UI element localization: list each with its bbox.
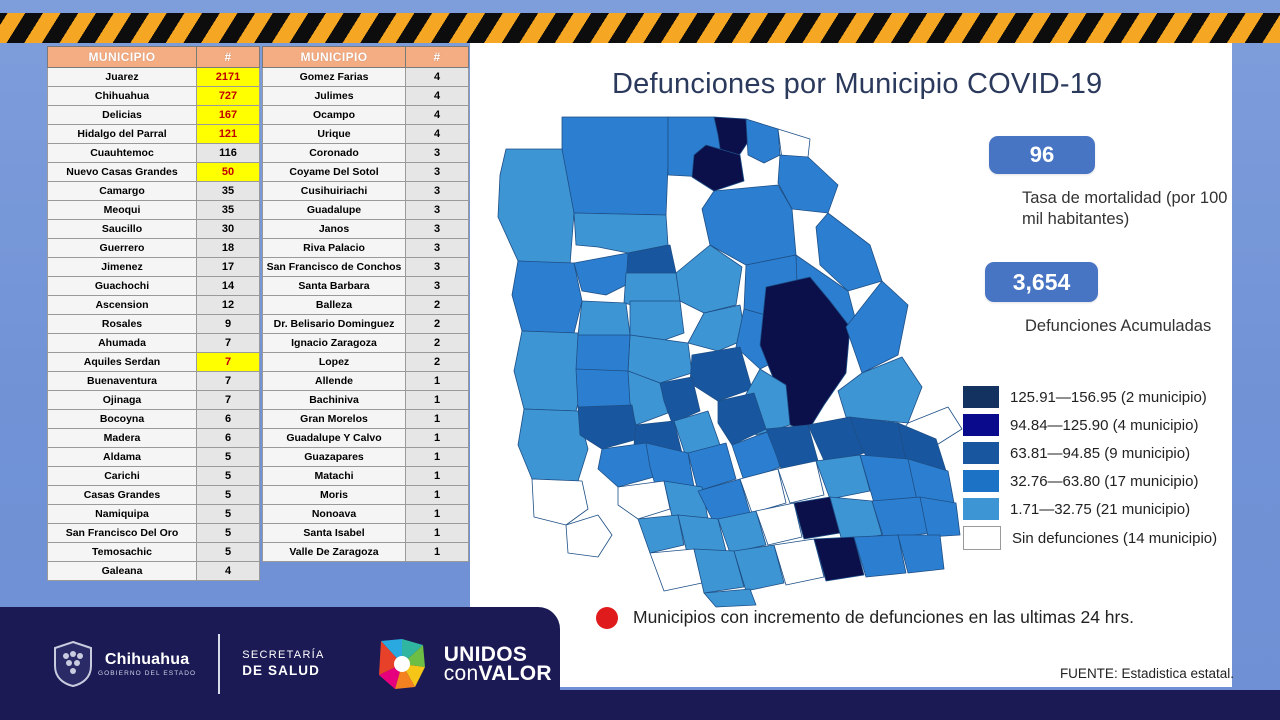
table-row: Carichi5 (48, 467, 260, 486)
cell-municipio: Balleza (263, 296, 406, 315)
column-header-municipio: MUNICIPIO (263, 47, 406, 68)
legend-row: 125.91—156.95 (2 municipio) (963, 386, 1217, 408)
cell-count: 5 (197, 467, 260, 486)
cell-count: 7 (197, 372, 260, 391)
table-row: San Francisco Del Oro5 (48, 524, 260, 543)
table-row: Nuevo Casas Grandes50 (48, 163, 260, 182)
table-row: Guachochi14 (48, 277, 260, 296)
cell-count: 12 (197, 296, 260, 315)
table-row: Coronado3 (263, 144, 469, 163)
cell-count: 5 (197, 448, 260, 467)
cell-municipio: Nuevo Casas Grandes (48, 163, 197, 182)
cell-count: 35 (197, 201, 260, 220)
map-region (598, 443, 654, 487)
mortality-rate-caption: Tasa de mortalidad (por 100 mil habitant… (1022, 188, 1237, 230)
table-row: Dr. Belisario Dominguez2 (263, 315, 469, 334)
table-row: Temosachic5 (48, 543, 260, 562)
cell-count: 3 (406, 201, 469, 220)
table-row: Chihuahua727 (48, 87, 260, 106)
cell-count: 1 (406, 467, 469, 486)
table-row: Ahumada7 (48, 334, 260, 353)
legend-label: 1.71—32.75 (21 municipio) (1010, 501, 1190, 518)
table-row: Guadalupe Y Calvo1 (263, 429, 469, 448)
table-row: Julimes4 (263, 87, 469, 106)
mortality-rate-badge: 96 (989, 136, 1095, 174)
cell-count: 9 (197, 315, 260, 334)
cell-count: 2 (406, 296, 469, 315)
municipality-table-left: MUNICIPIO # Juarez2171Chihuahua727Delici… (47, 46, 260, 581)
cell-municipio: Guazapares (263, 448, 406, 467)
chihuahua-choropleth-map (478, 105, 968, 610)
cell-municipio: Matachi (263, 467, 406, 486)
cell-municipio: Jimenez (48, 258, 197, 277)
map-region (650, 549, 702, 591)
cell-municipio: Ojinaga (48, 391, 197, 410)
table: MUNICIPIO # Juarez2171Chihuahua727Delici… (47, 46, 260, 581)
cell-count: 18 (197, 239, 260, 258)
cell-municipio: Cusihuiriachi (263, 182, 406, 201)
hazard-stripe-banner (0, 13, 1280, 43)
column-header-count: # (406, 47, 469, 68)
map-region (638, 515, 684, 553)
cell-municipio: Cuauhtemoc (48, 144, 197, 163)
legend-row: Sin defunciones (14 municipio) (963, 526, 1217, 550)
secretaria-line1: SECRETARÍA (242, 649, 324, 661)
map-region (562, 117, 668, 215)
cell-municipio: San Francisco de Conchos (263, 258, 406, 277)
cell-count: 116 (197, 144, 260, 163)
cell-count: 4 (406, 87, 469, 106)
map-region (618, 481, 670, 519)
cell-municipio: Ascension (48, 296, 197, 315)
cell-municipio: Guachochi (48, 277, 197, 296)
table-row: Gomez Farias4 (263, 68, 469, 87)
cell-municipio: Allende (263, 372, 406, 391)
cell-municipio: Namiquipa (48, 505, 197, 524)
table: MUNICIPIO # Gomez Farias4Julimes4Ocampo4… (262, 46, 469, 562)
cell-count: 6 (197, 410, 260, 429)
gov-logo-text: Chihuahua GOBIERNO DEL ESTADO (98, 651, 196, 677)
table-row: Meoqui35 (48, 201, 260, 220)
cell-municipio: Bachiniva (263, 391, 406, 410)
table-body: Gomez Farias4Julimes4Ocampo4Urique4Coron… (263, 68, 469, 562)
cell-count: 4 (406, 106, 469, 125)
divider (218, 634, 220, 694)
cell-municipio: Nonoava (263, 505, 406, 524)
legend-label: 94.84—125.90 (4 municipio) (1010, 417, 1198, 434)
secretaria-line2: DE SALUD (242, 663, 324, 678)
chihuahua-state-shape-icon (371, 633, 433, 695)
legend-color-swatch (963, 470, 999, 492)
cell-municipio: Santa Barbara (263, 277, 406, 296)
unidos-text: UNIDOS conVALOR (444, 645, 552, 683)
table-row: Guerrero18 (48, 239, 260, 258)
cell-count-highlighted: 727 (197, 87, 260, 106)
table-row: Allende1 (263, 372, 469, 391)
map-region (746, 119, 780, 163)
cell-count: 2 (406, 315, 469, 334)
source-note: FUENTE: Estadistica estatal. (1060, 666, 1234, 681)
cell-municipio: Coyame Del Sotol (263, 163, 406, 182)
cell-municipio: Rosales (48, 315, 197, 334)
table-row: Nonoava1 (263, 505, 469, 524)
map-region (690, 347, 752, 401)
cell-count: 7 (197, 391, 260, 410)
map-region (574, 253, 628, 295)
table-row: Aquiles Serdan7 (48, 353, 260, 372)
cell-count: 4 (406, 68, 469, 87)
table-row: Delicias167 (48, 106, 260, 125)
table-row: Camargo35 (48, 182, 260, 201)
map-region (518, 409, 588, 481)
cell-municipio: Juarez (48, 68, 197, 87)
legend-color-swatch (963, 414, 999, 436)
cell-municipio: Ahumada (48, 334, 197, 353)
cell-count-highlighted: 7 (197, 353, 260, 372)
gov-name: Chihuahua (105, 651, 189, 669)
cell-count: 3 (406, 239, 469, 258)
cell-municipio: Buenaventura (48, 372, 197, 391)
cell-municipio: Temosachic (48, 543, 197, 562)
cell-count: 1 (406, 410, 469, 429)
cell-municipio: Bocoyna (48, 410, 197, 429)
unidos-line2: conVALOR (444, 664, 552, 683)
unidos-valor: VALOR (478, 662, 551, 685)
table-row: Santa Barbara3 (263, 277, 469, 296)
cell-count: 5 (197, 505, 260, 524)
cell-municipio: Saucillo (48, 220, 197, 239)
table-header-row: MUNICIPIO # (263, 47, 469, 68)
table-row: Madera6 (48, 429, 260, 448)
gov-subtitle: GOBIERNO DEL ESTADO (98, 670, 196, 677)
cell-count: 1 (406, 448, 469, 467)
table-row: Galeana4 (48, 562, 260, 581)
cell-municipio: Delicias (48, 106, 197, 125)
legend-color-swatch (963, 386, 999, 408)
cell-municipio: Coronado (263, 144, 406, 163)
cell-count: 3 (406, 144, 469, 163)
table-row: Coyame Del Sotol3 (263, 163, 469, 182)
table-row: Ocampo4 (263, 106, 469, 125)
cell-count: 1 (406, 486, 469, 505)
cell-municipio: Casas Grandes (48, 486, 197, 505)
increase-note: Municipios con incremento de defunciones… (596, 605, 1193, 630)
cell-count: 1 (406, 391, 469, 410)
legend-row: 32.76—63.80 (17 municipio) (963, 470, 1217, 492)
cell-count: 6 (197, 429, 260, 448)
cell-municipio: Aquiles Serdan (48, 353, 197, 372)
total-deaths-badge: 3,654 (985, 262, 1098, 302)
table-row: Saucillo30 (48, 220, 260, 239)
legend-row: 63.81—94.85 (9 municipio) (963, 442, 1217, 464)
table-row: Moris1 (263, 486, 469, 505)
table-row: Ignacio Zaragoza2 (263, 334, 469, 353)
chihuahua-government-logo: Chihuahua GOBIERNO DEL ESTADO (52, 640, 196, 688)
table-row: Buenaventura7 (48, 372, 260, 391)
legend-color-swatch (963, 442, 999, 464)
cell-municipio: Julimes (263, 87, 406, 106)
table-row: Ascension12 (48, 296, 260, 315)
cell-municipio: Chihuahua (48, 87, 197, 106)
cell-count: 1 (406, 505, 469, 524)
table-row: Guazapares1 (263, 448, 469, 467)
map-region (514, 331, 586, 411)
increase-note-text: Municipios con incremento de defunciones… (633, 605, 1193, 630)
table-row: Jimenez17 (48, 258, 260, 277)
legend-label: 32.76—63.80 (17 municipio) (1010, 473, 1198, 490)
cell-count: 4 (406, 125, 469, 144)
cell-municipio: Ocampo (263, 106, 406, 125)
table-row: Hidalgo del Parral121 (48, 125, 260, 144)
cell-municipio: Hidalgo del Parral (48, 125, 197, 144)
column-header-municipio: MUNICIPIO (48, 47, 197, 68)
cell-municipio: San Francisco Del Oro (48, 524, 197, 543)
table-row: Bachiniva1 (263, 391, 469, 410)
legend-label: 63.81—94.85 (9 municipio) (1010, 445, 1190, 462)
cell-municipio: Aldama (48, 448, 197, 467)
cell-count-highlighted: 167 (197, 106, 260, 125)
table-row: Lopez2 (263, 353, 469, 372)
cell-count: 3 (406, 258, 469, 277)
cell-municipio: Dr. Belisario Dominguez (263, 315, 406, 334)
cell-municipio: Guadalupe Y Calvo (263, 429, 406, 448)
column-header-count: # (197, 47, 260, 68)
secretaria-salud-label: SECRETARÍA DE SALUD (242, 649, 324, 678)
cell-count: 3 (406, 220, 469, 239)
table-row: Riva Palacio3 (263, 239, 469, 258)
map-region (532, 479, 588, 525)
legend-label: Sin defunciones (14 municipio) (1012, 530, 1217, 547)
cell-count: 3 (406, 277, 469, 296)
cell-municipio: Valle De Zaragoza (263, 543, 406, 562)
cell-count: 1 (406, 543, 469, 562)
table-header-row: MUNICIPIO # (48, 47, 260, 68)
cell-count: 3 (406, 163, 469, 182)
cell-count: 2 (406, 334, 469, 353)
cell-municipio: Riva Palacio (263, 239, 406, 258)
shield-icon (52, 640, 94, 688)
map-region (566, 515, 612, 557)
map-region (778, 129, 810, 159)
cell-count: 17 (197, 258, 260, 277)
footer-bar: Chihuahua GOBIERNO DEL ESTADO SECRETARÍA… (0, 607, 560, 720)
cell-municipio: Meoqui (48, 201, 197, 220)
cell-count: 5 (197, 486, 260, 505)
legend-label: 125.91—156.95 (2 municipio) (1010, 389, 1207, 406)
map-region (574, 213, 668, 253)
table-row: Urique4 (263, 125, 469, 144)
page-title: Defunciones por Municipio COVID-19 (612, 68, 1102, 101)
legend-row: 1.71—32.75 (21 municipio) (963, 498, 1217, 520)
table-row: Aldama5 (48, 448, 260, 467)
cell-count: 30 (197, 220, 260, 239)
cell-municipio: Santa Isabel (263, 524, 406, 543)
map-region (838, 357, 922, 423)
cell-municipio: Gran Morelos (263, 410, 406, 429)
cell-municipio: Madera (48, 429, 197, 448)
table-row: Guadalupe3 (263, 201, 469, 220)
cell-count: 14 (197, 277, 260, 296)
table-row: Namiquipa5 (48, 505, 260, 524)
cell-count-highlighted: 121 (197, 125, 260, 144)
total-deaths-caption: Defunciones Acumuladas (1025, 316, 1240, 337)
table-row: Juarez2171 (48, 68, 260, 87)
cell-municipio: Camargo (48, 182, 197, 201)
table-row: Valle De Zaragoza1 (263, 543, 469, 562)
cell-municipio: Janos (263, 220, 406, 239)
cell-municipio: Ignacio Zaragoza (263, 334, 406, 353)
table-row: Bocoyna6 (48, 410, 260, 429)
table-row: Balleza2 (263, 296, 469, 315)
red-circle-icon (596, 607, 618, 629)
map-legend: 125.91—156.95 (2 municipio)94.84—125.90 … (963, 386, 1217, 556)
cell-count: 35 (197, 182, 260, 201)
cell-municipio: Carichi (48, 467, 197, 486)
table-row: Gran Morelos1 (263, 410, 469, 429)
cell-municipio: Gomez Farias (263, 68, 406, 87)
table-row: Matachi1 (263, 467, 469, 486)
table-row: Ojinaga7 (48, 391, 260, 410)
legend-row: 94.84—125.90 (4 municipio) (963, 414, 1217, 436)
cell-count: 4 (197, 562, 260, 581)
cell-municipio: Urique (263, 125, 406, 144)
table-row: Santa Isabel1 (263, 524, 469, 543)
cell-count: 1 (406, 524, 469, 543)
table-row: Cuauhtemoc116 (48, 144, 260, 163)
cell-count: 5 (197, 543, 260, 562)
cell-municipio: Guerrero (48, 239, 197, 258)
cell-municipio: Moris (263, 486, 406, 505)
legend-color-swatch (963, 498, 999, 520)
cell-count: 1 (406, 372, 469, 391)
cell-count: 2 (406, 353, 469, 372)
cell-municipio: Lopez (263, 353, 406, 372)
table-row: Rosales9 (48, 315, 260, 334)
cell-municipio: Guadalupe (263, 201, 406, 220)
cell-count: 1 (406, 429, 469, 448)
map-region (512, 261, 582, 333)
map-region (498, 149, 574, 265)
cell-municipio: Galeana (48, 562, 197, 581)
municipality-table-right: MUNICIPIO # Gomez Farias4Julimes4Ocampo4… (262, 46, 469, 562)
table-body: Juarez2171Chihuahua727Delicias167Hidalgo… (48, 68, 260, 581)
table-row: Cusihuiriachi3 (263, 182, 469, 201)
legend-color-swatch (963, 526, 1001, 550)
cell-count: 7 (197, 334, 260, 353)
table-row: Janos3 (263, 220, 469, 239)
unidos-con: con (444, 662, 479, 685)
cell-count-highlighted: 50 (197, 163, 260, 182)
unidos-con-valor-logo: UNIDOS conVALOR (371, 633, 552, 695)
cell-count: 3 (406, 182, 469, 201)
map-region (578, 405, 638, 449)
cell-count: 5 (197, 524, 260, 543)
table-row: San Francisco de Conchos3 (263, 258, 469, 277)
cell-count-highlighted: 2171 (197, 68, 260, 87)
table-row: Casas Grandes5 (48, 486, 260, 505)
